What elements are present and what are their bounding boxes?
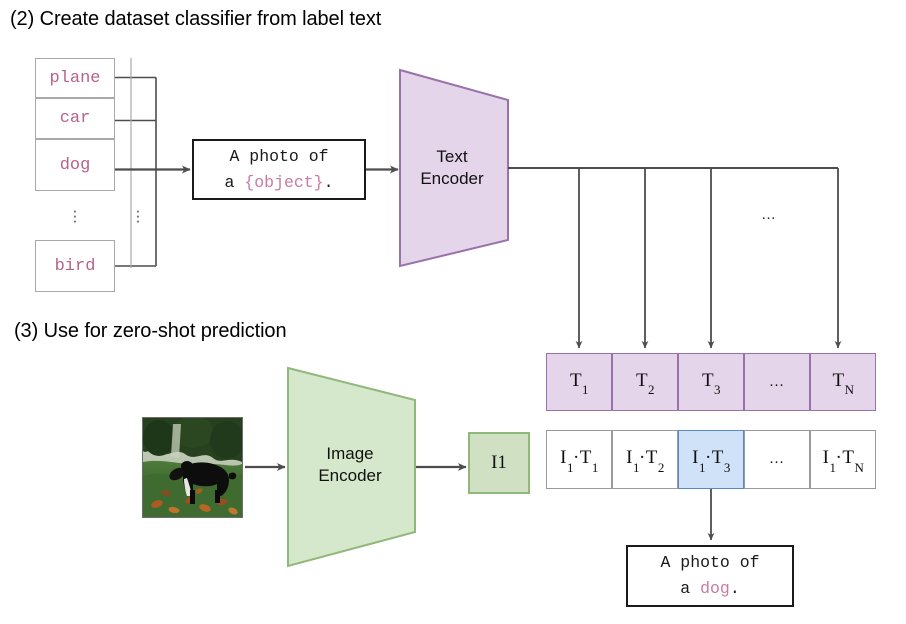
cell-text: T3 xyxy=(702,370,720,395)
prompt-line2-suffix: . xyxy=(324,173,334,192)
cell-text: T1 xyxy=(570,370,588,395)
cell-text: I1·T2 xyxy=(626,447,664,472)
cell-text: I1 xyxy=(491,452,507,474)
text-encoder-label: Text Encoder xyxy=(400,146,504,190)
cell-text: I1·T1 xyxy=(560,447,598,472)
text-embedding-cell-3[interactable]: T3 xyxy=(678,353,744,411)
prompt-variable-token: {object} xyxy=(244,173,323,192)
page-title-step2: (2) Create dataset classifier from label… xyxy=(10,8,381,31)
prediction-line-1: A photo of xyxy=(660,550,759,576)
label-text: bird xyxy=(55,257,96,276)
label-box-bird[interactable]: bird xyxy=(35,240,115,292)
prediction-line2-suffix: . xyxy=(730,579,740,598)
image-encoder-label: Image Encoder xyxy=(290,443,410,487)
image-encoder-label-line2: Encoder xyxy=(290,465,410,487)
similarity-cell-1[interactable]: I1·T1 xyxy=(546,430,612,489)
text-encoder-label-line1: Text xyxy=(400,146,504,168)
bus-ellipsis: … xyxy=(761,206,778,223)
label-box-dog[interactable]: dog xyxy=(35,139,115,191)
cell-text: TN xyxy=(833,370,854,395)
similarity-cell-2[interactable]: I1·T2 xyxy=(612,430,678,489)
input-photo-thumbnail[interactable] xyxy=(142,417,243,518)
prompt-template-box[interactable]: A photo of a {object}. xyxy=(192,139,366,200)
vertical-ellipsis-left: ··· xyxy=(69,208,81,223)
text-embedding-cell-1[interactable]: T1 xyxy=(546,353,612,411)
image-encoder-label-line1: Image xyxy=(290,443,410,465)
cell-text: I1·T3 xyxy=(692,447,730,472)
label-text: plane xyxy=(49,69,100,88)
label-text: car xyxy=(60,109,91,128)
label-box-plane[interactable]: plane xyxy=(35,58,115,98)
cell-text: I1·TN xyxy=(823,447,864,472)
cell-text: … xyxy=(769,451,785,468)
label-text: dog xyxy=(60,156,91,175)
photo-illustration xyxy=(143,418,242,517)
image-embedding-box[interactable]: I1 xyxy=(468,432,530,494)
page-title-step3: (3) Use for zero-shot prediction xyxy=(14,320,286,343)
cell-text: … xyxy=(769,374,785,391)
prompt-line2-prefix: a xyxy=(225,173,245,192)
text-embedding-cell-ellipsis: … xyxy=(744,353,810,411)
prediction-output-box[interactable]: A photo of a dog. xyxy=(626,545,794,607)
text-embedding-cell-2[interactable]: T2 xyxy=(612,353,678,411)
prompt-line-2: a {object}. xyxy=(225,170,334,196)
cell-text: T2 xyxy=(636,370,654,395)
prediction-class-token: dog xyxy=(700,579,730,598)
clip-zero-shot-diagram: (2) Create dataset classifier from label… xyxy=(0,0,906,624)
similarity-cell-ellipsis: … xyxy=(744,430,810,489)
connector-layer xyxy=(0,0,906,624)
prediction-line-2: a dog. xyxy=(680,576,739,602)
similarity-cell-n[interactable]: I1·TN xyxy=(810,430,876,489)
prompt-line-1: A photo of xyxy=(229,144,328,170)
label-box-car[interactable]: car xyxy=(35,98,115,139)
similarity-cell-3-selected[interactable]: I1·T3 xyxy=(678,430,744,489)
text-embedding-cell-n[interactable]: TN xyxy=(810,353,876,411)
text-encoder-label-line2: Encoder xyxy=(400,168,504,190)
prediction-line2-prefix: a xyxy=(680,579,700,598)
vertical-ellipsis-right: ··· xyxy=(132,208,144,223)
